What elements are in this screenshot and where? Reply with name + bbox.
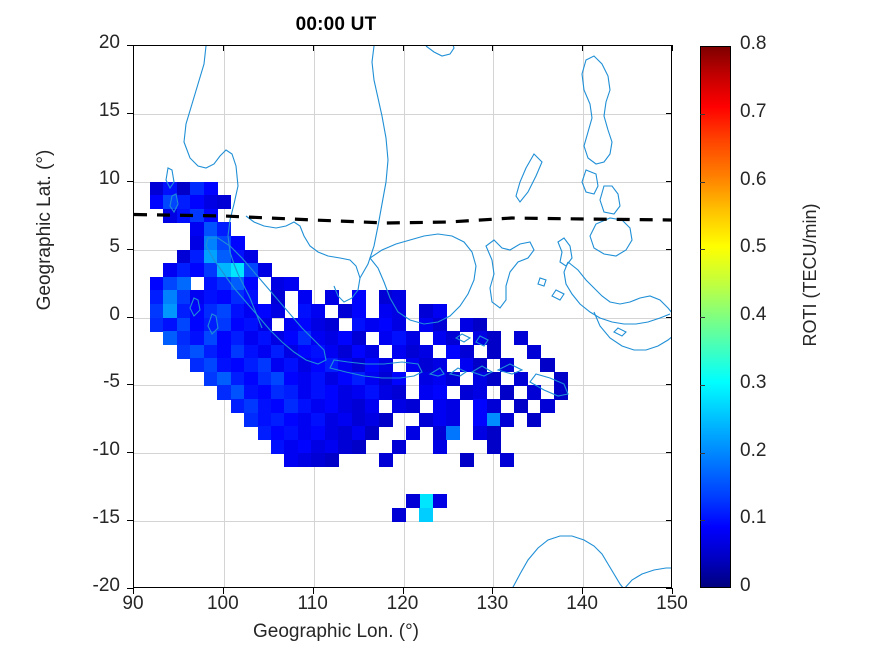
y-tick-label: -10 xyxy=(38,439,120,461)
x-tick-label: 110 xyxy=(278,593,348,615)
y-tick-mark xyxy=(127,181,133,182)
y-tick-label: -5 xyxy=(38,371,120,393)
y-tick-mark xyxy=(127,317,133,318)
y-tick-label: -20 xyxy=(38,575,120,597)
x-tick-mark-top xyxy=(313,45,314,51)
y-tick-mark-right xyxy=(666,452,672,453)
colorbar-tick-mark xyxy=(700,520,705,521)
x-tick-label: 150 xyxy=(637,593,707,615)
x-tick-mark-top xyxy=(582,45,583,51)
x-tick-label: 120 xyxy=(368,593,438,615)
colorbar-tick-label: 0.8 xyxy=(740,33,766,55)
x-tick-mark-top xyxy=(403,45,404,51)
y-tick-mark-right xyxy=(666,317,672,318)
y-tick-label: 10 xyxy=(38,168,120,190)
colorbar-tick-mark xyxy=(700,249,705,250)
x-tick-label: 140 xyxy=(547,593,617,615)
colorbar-tick-label: 0.1 xyxy=(740,507,766,529)
colorbar-tick-label: 0.7 xyxy=(740,101,766,123)
figure-root: 00:00 UT xyxy=(0,0,875,656)
y-tick-mark xyxy=(127,520,133,521)
y-tick-label: 0 xyxy=(38,304,120,326)
heatmap-plot-area[interactable] xyxy=(133,45,672,588)
y-tick-mark xyxy=(127,113,133,114)
x-tick-mark-top xyxy=(223,45,224,51)
y-tick-mark-right xyxy=(666,113,672,114)
y-tick-mark-right xyxy=(666,520,672,521)
y-tick-mark xyxy=(127,384,133,385)
x-tick-mark-top xyxy=(672,45,673,51)
y-tick-label: -15 xyxy=(38,507,120,529)
colorbar-tick-mark xyxy=(700,453,705,454)
x-tick-label: 100 xyxy=(188,593,258,615)
colorbar-tick-mark xyxy=(700,317,705,318)
colorbar-tick-label: 0.6 xyxy=(740,169,766,191)
colorbar-tick-label: 0.5 xyxy=(740,236,766,258)
y-tick-mark-right xyxy=(666,384,672,385)
colorbar-tick-label: 0.2 xyxy=(740,440,766,462)
x-axis-label: Geographic Lon. (°) xyxy=(0,621,672,643)
x-tick-mark-top xyxy=(133,45,134,51)
y-tick-mark xyxy=(127,588,133,589)
colorbar-tick-mark xyxy=(700,182,705,183)
colorbar-tick-mark xyxy=(700,385,705,386)
colorbar-tick-label: 0.4 xyxy=(740,304,766,326)
y-tick-label: 5 xyxy=(38,236,120,258)
x-tick-label: 130 xyxy=(457,593,527,615)
magnetic-equator-line xyxy=(134,46,672,588)
x-tick-mark-top xyxy=(492,45,493,51)
y-tick-mark xyxy=(127,249,133,250)
colorbar-tick-label: 0.3 xyxy=(740,372,766,394)
y-tick-mark xyxy=(127,452,133,453)
y-tick-mark-right xyxy=(666,588,672,589)
y-tick-label: 15 xyxy=(38,100,120,122)
y-tick-mark xyxy=(127,45,133,46)
y-tick-mark-right xyxy=(666,45,672,46)
y-tick-mark-right xyxy=(666,181,672,182)
y-tick-mark-right xyxy=(666,249,672,250)
colorbar-tick-mark xyxy=(700,114,705,115)
colorbar-tick-label: 0 xyxy=(740,575,751,597)
colorbar-label: ROTI (TECU/min) xyxy=(800,50,821,500)
y-tick-label: 20 xyxy=(38,32,120,54)
